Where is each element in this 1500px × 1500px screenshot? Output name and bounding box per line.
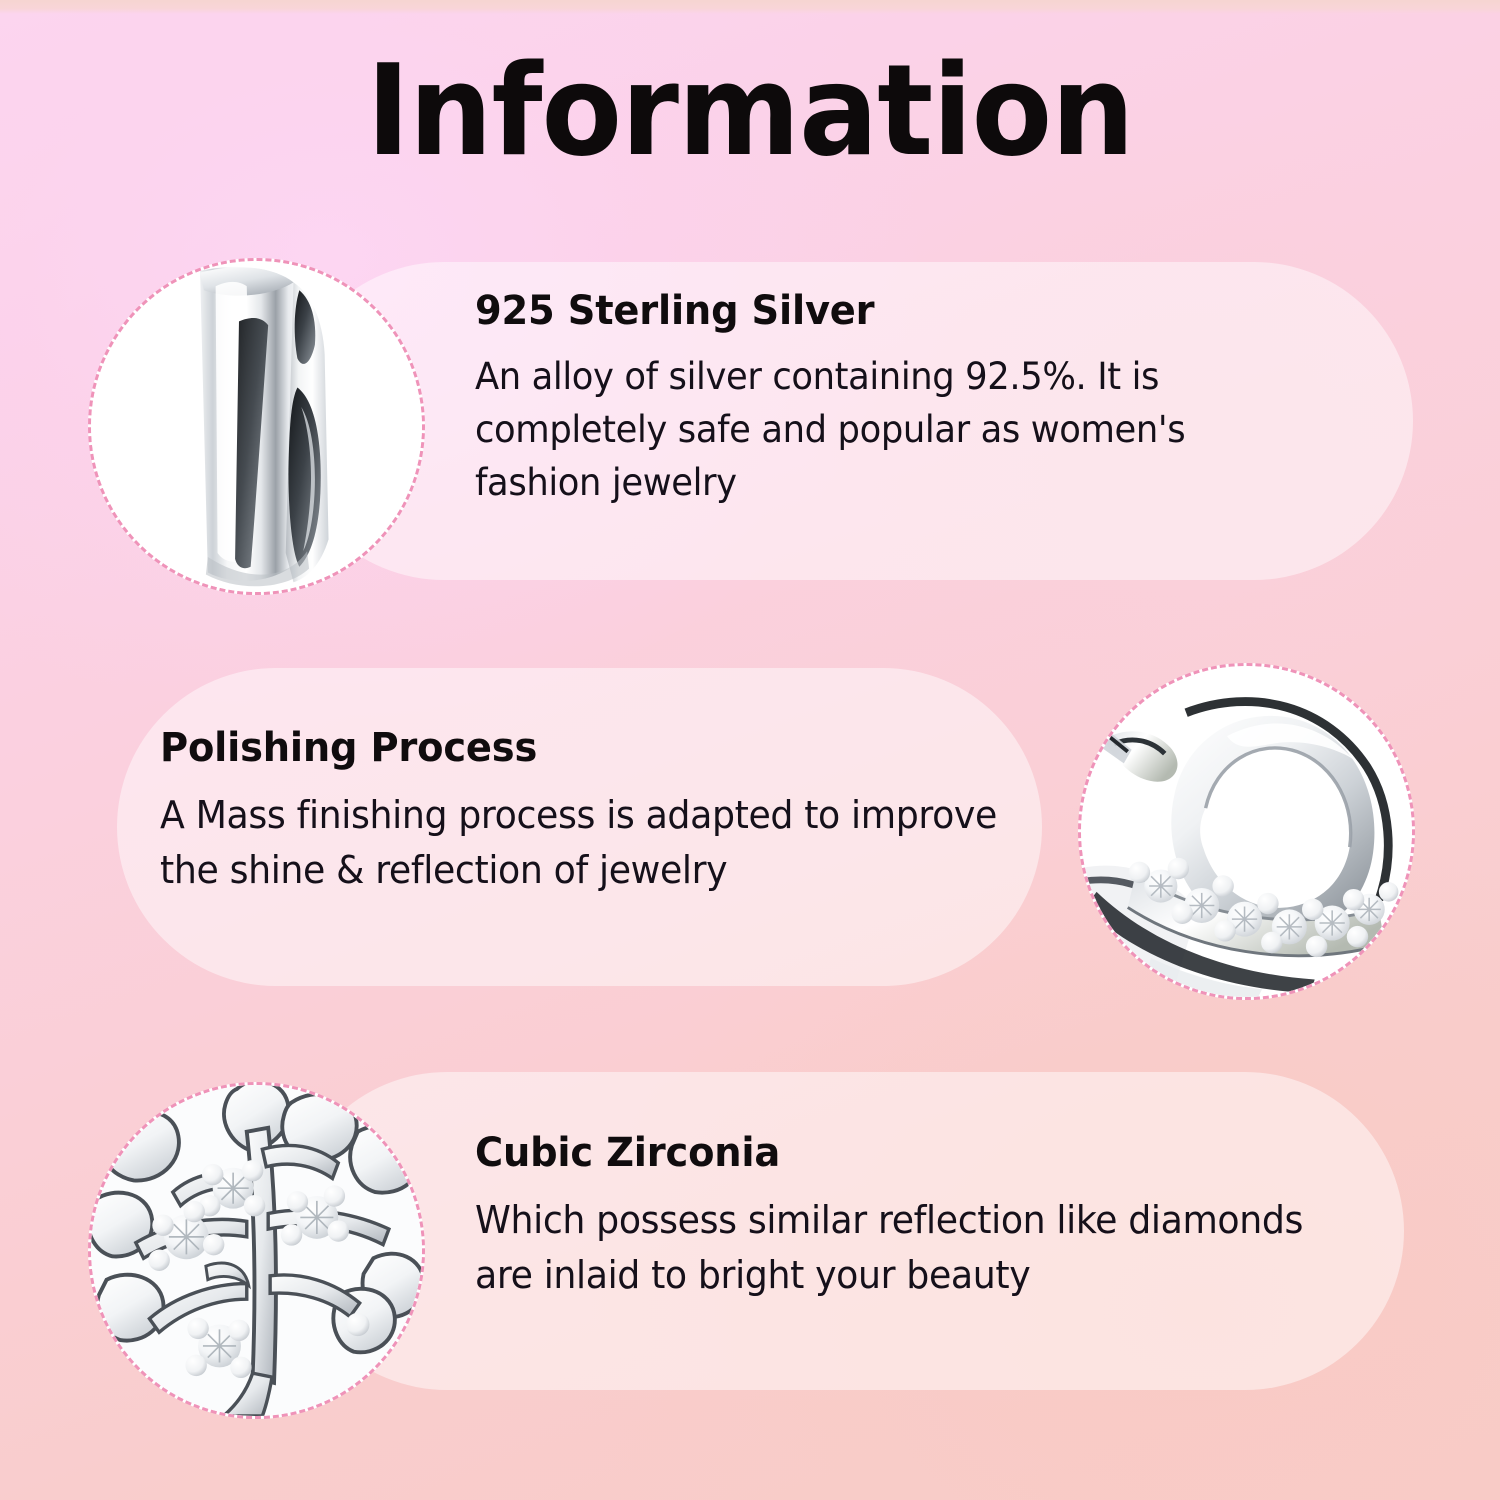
tree-of-life-cz-stones-closeup-photo bbox=[88, 1082, 425, 1419]
silver-charm-illustration bbox=[91, 261, 422, 592]
feature-title: Cubic Zirconia bbox=[475, 1130, 1339, 1177]
silver-charm-closeup-photo bbox=[88, 258, 425, 595]
photo-clip bbox=[91, 1085, 422, 1416]
feature-text-sterling-silver: 925 Sterling Silver An alloy of silver c… bbox=[475, 288, 1355, 510]
photo-clip bbox=[1081, 666, 1412, 997]
feature-title: 925 Sterling Silver bbox=[475, 288, 1320, 335]
infographic-canvas: Information 925 Sterling Silver An alloy… bbox=[0, 0, 1500, 1500]
background-top-strip bbox=[0, 0, 1500, 14]
feature-body: A Mass finishing process is adapted to i… bbox=[160, 788, 1000, 897]
feature-body: An alloy of silver containing 92.5%. It … bbox=[475, 351, 1315, 510]
feature-text-polishing-process: Polishing Process A Mass finishing proce… bbox=[160, 725, 1040, 897]
polished-pave-jewelry-closeup-photo bbox=[1078, 663, 1415, 1000]
prong-bead bbox=[346, 1313, 369, 1336]
photo-clip bbox=[91, 261, 422, 592]
pave-jewelry-illustration bbox=[1081, 666, 1412, 997]
tree-of-life-illustration bbox=[91, 1085, 422, 1416]
feature-body: Which possess similar reflection like di… bbox=[475, 1193, 1335, 1302]
feature-title: Polishing Process bbox=[160, 725, 1005, 772]
feature-text-cubic-zirconia: Cubic Zirconia Which possess similar ref… bbox=[475, 1130, 1375, 1302]
page-title: Information bbox=[53, 48, 1448, 174]
